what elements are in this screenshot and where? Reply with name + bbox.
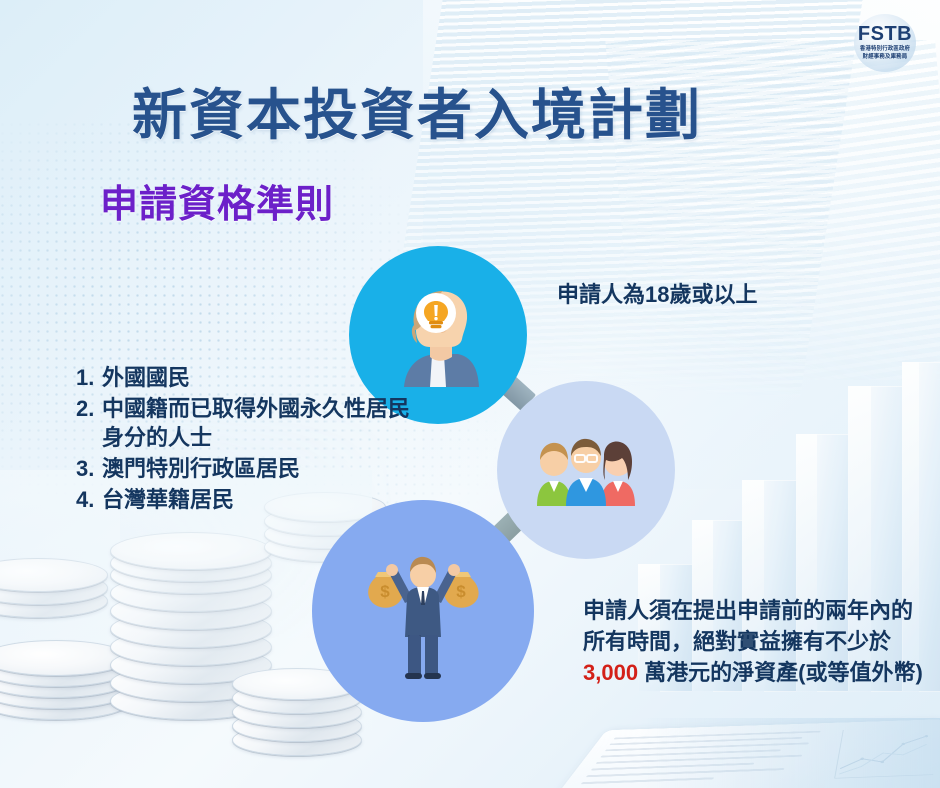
eligibility-list: 1. 外國國民 2. 中國籍而已取得外國永久性居民身分的人士 3. 澳門特別行政… — [76, 363, 426, 516]
logo-government-line: 香港特別行政區政府 — [860, 46, 910, 54]
list-item: 3. 澳門特別行政區居民 — [76, 454, 426, 483]
note-asset-part1: 申請人須在提出申請前的兩年內的所有時間，絕對實益擁有不少於 — [583, 598, 913, 654]
note-asset-amount: 3,000 — [583, 660, 638, 685]
list-item-number: 1. — [76, 363, 102, 392]
list-item: 4. 台灣華籍居民 — [76, 485, 426, 514]
man-money-bags-icon: $ $ — [359, 541, 487, 681]
fstb-logo: FSTB 香港特別行政區政府 財經事務及庫務局 — [842, 14, 928, 72]
list-item-label: 台灣華籍居民 — [102, 485, 426, 514]
list-item-label: 澳門特別行政區居民 — [102, 454, 426, 483]
note-asset-part2: 萬港元的淨資產(或等值外幣) — [638, 660, 923, 685]
list-item-number: 2. — [76, 394, 102, 452]
list-item: 2. 中國籍而已取得外國永久性居民身分的人士 — [76, 394, 426, 452]
background-bottom-tint — [640, 718, 940, 788]
page-subtitle: 申請資格準則 — [100, 173, 334, 228]
svg-text:$: $ — [456, 582, 466, 601]
logo-acronym: FSTB — [858, 24, 912, 44]
page-title: 新資本投資者入境計劃 — [132, 70, 702, 150]
note-asset-requirement: 申請人須在提出申請前的兩年內的所有時間，絕對實益擁有不少於3,000 萬港元的淨… — [583, 595, 933, 689]
circle-wealth: $ $ — [312, 500, 534, 722]
svg-text:$: $ — [380, 582, 390, 601]
list-item-number: 4. — [76, 485, 102, 514]
list-item: 1. 外國國民 — [76, 363, 426, 392]
logo-bureau-line: 財經事務及庫務局 — [863, 54, 908, 62]
note-age-requirement: 申請人為18歲或以上 — [557, 277, 757, 309]
three-people-icon — [527, 434, 645, 506]
circle-people — [497, 381, 675, 559]
list-item-number: 3. — [76, 454, 102, 483]
infographic-poster: FSTB 香港特別行政區政府 財經事務及庫務局 新資本投資者入境計劃 申請資格準… — [0, 0, 940, 788]
list-item-label: 外國國民 — [102, 363, 426, 392]
list-item-label: 中國籍而已取得外國永久性居民身分的人士 — [102, 394, 426, 452]
